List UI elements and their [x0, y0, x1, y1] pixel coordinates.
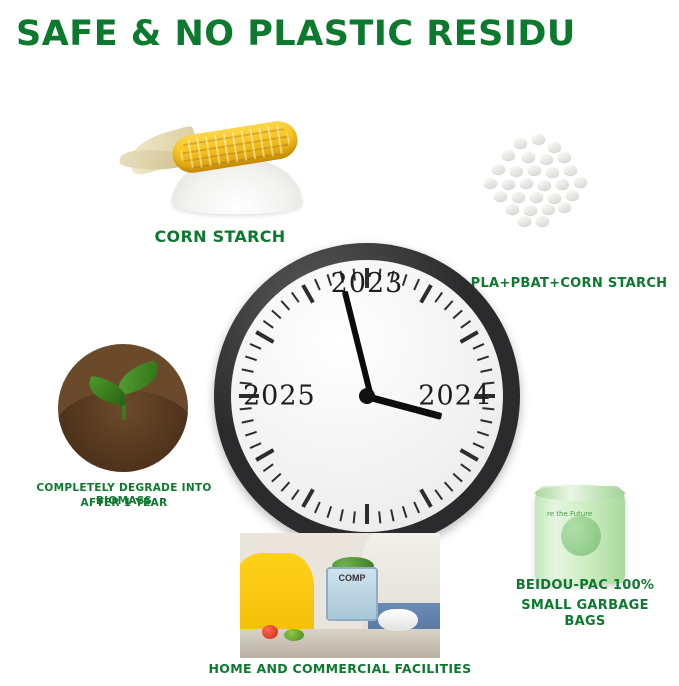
seedling-in-soil-photo	[58, 344, 188, 472]
clock-minor-tick	[413, 279, 420, 291]
clock-minor-tick	[480, 368, 492, 372]
clock-major-tick	[255, 330, 274, 343]
clock-minor-tick	[390, 509, 394, 521]
clock-minor-tick	[281, 482, 291, 492]
clock-minor-tick	[250, 343, 262, 350]
caption-degrade-line2: AFTER 1 YEAR	[27, 497, 221, 510]
clock-minor-tick	[453, 310, 463, 320]
page-title: SAFE & NO PLASTIC RESIDU	[16, 14, 576, 54]
clock-minor-tick	[473, 343, 485, 350]
clock-numeral-2024: 2024	[418, 381, 491, 412]
compost-kitchen-photo: COMP	[240, 533, 440, 658]
clock-major-tick	[301, 489, 314, 508]
clock-minor-tick	[477, 431, 489, 437]
clock-minor-tick	[473, 442, 485, 449]
clock-minor-tick	[453, 473, 463, 483]
garbage-bag-roll: re the Future	[535, 486, 625, 584]
clock-minor-tick	[314, 502, 321, 514]
clock-center-hub	[359, 388, 375, 404]
caption-facilities: HOME AND COMMERCIAL FACILITIES	[200, 661, 480, 677]
clock-face: 2023 2024 2025	[231, 260, 503, 532]
white-container	[378, 609, 418, 631]
caption-bags-line1: BEIDOU-PAC 100%	[505, 578, 665, 594]
clock-major-tick	[365, 504, 369, 524]
bag-print-text: re the Future	[547, 510, 613, 568]
clock-minor-tick	[281, 300, 291, 310]
clock-minor-tick	[271, 310, 281, 320]
clock-minor-tick	[480, 419, 492, 423]
clock-minor-tick	[402, 506, 408, 518]
clock-minor-tick	[250, 442, 262, 449]
clock-minor-tick	[444, 482, 454, 492]
clock-minor-tick	[314, 279, 321, 291]
vegetable-icon	[284, 629, 304, 641]
clock-minor-tick	[434, 292, 443, 303]
clock-minor-tick	[291, 489, 300, 500]
clock-minor-tick	[460, 463, 471, 472]
clock-minor-tick	[242, 368, 254, 372]
clock-minor-tick	[477, 355, 489, 361]
clock-minor-tick	[271, 473, 281, 483]
clock-numeral-2025: 2025	[243, 381, 316, 412]
clock-minor-tick	[263, 320, 274, 329]
clock-minor-tick	[242, 419, 254, 423]
clock-major-tick	[460, 448, 479, 461]
clock-major-tick	[301, 284, 314, 303]
caption-bags-line2: SMALL GARBAGE BAGS	[505, 598, 665, 631]
clock-graphic: 2023 2024 2025	[214, 243, 520, 549]
clock-minor-tick	[434, 489, 443, 500]
tomato-icon	[262, 625, 278, 639]
clock-major-tick	[460, 330, 479, 343]
compost-bin: COMP	[326, 567, 378, 621]
clock-minor-tick	[263, 463, 274, 472]
clock-minor-tick	[413, 502, 420, 514]
clock-major-tick	[255, 448, 274, 461]
clock-minor-tick	[444, 300, 454, 310]
clock-minor-tick	[245, 431, 257, 437]
clock-minor-tick	[326, 506, 332, 518]
clock-major-tick	[419, 284, 432, 303]
clock-major-tick	[419, 489, 432, 508]
clock-minute-hand	[342, 291, 373, 393]
clock-minor-tick	[378, 511, 381, 523]
clock-minor-tick	[353, 511, 356, 523]
clock-minor-tick	[460, 320, 471, 329]
pla-pellets-illustration	[480, 132, 600, 232]
clock-minor-tick	[291, 292, 300, 303]
clock-minor-tick	[339, 509, 343, 521]
clock-minor-tick	[245, 355, 257, 361]
corn-starch-illustration	[120, 110, 320, 220]
